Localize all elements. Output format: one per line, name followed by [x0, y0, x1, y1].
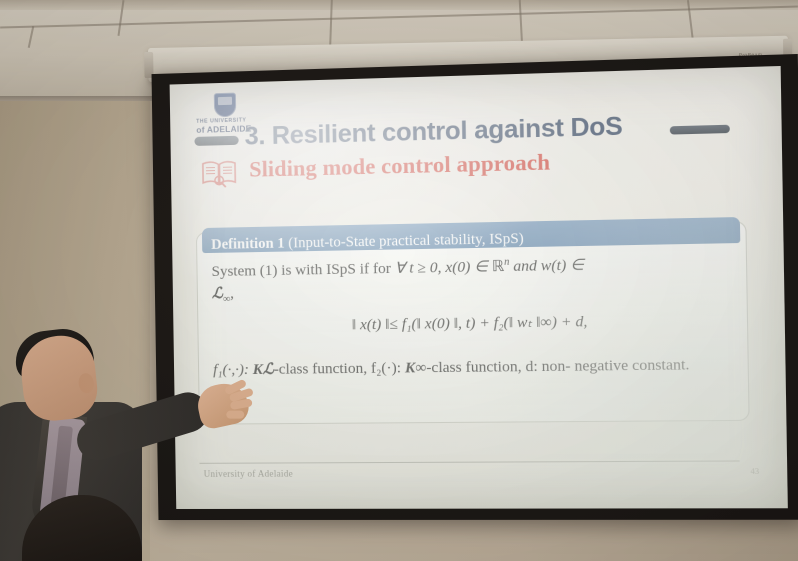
definition-box: Definition 1 (Input-to-State practical s… — [196, 221, 750, 425]
university-crest-icon — [214, 93, 236, 118]
open-book-icon — [201, 159, 238, 188]
definition-line1-b: t ≥ 0, x(0) ∈ — [405, 259, 492, 277]
real-numbers-symbol: ℝ — [492, 259, 505, 276]
closing-b: -class function, f₂(·): — [274, 360, 405, 378]
definition-line2-comma: , — [230, 285, 234, 301]
slide-title: 3. Resilient control against DoS — [244, 112, 622, 152]
definition-body: System (1) is with ISpS if for ∀ t ≥ 0, … — [211, 251, 735, 382]
definition-equation: ‖ x(t) ‖≤ f₁(‖ x(0) ‖, t) + f₂(‖ wₜ ‖∞) … — [212, 309, 734, 338]
script-L-symbol: ℒ — [212, 286, 223, 302]
definition-line1-a: System (1) is with ISpS if for — [211, 261, 394, 280]
slide-subtitle: Sliding mode control approach — [249, 149, 550, 183]
presenter-thumb — [226, 411, 244, 419]
lecture-room-photo: ProBeam THE UNIVERSITY of ADELAIDE 3. Re… — [0, 0, 798, 561]
title-accent-bar-left — [194, 136, 238, 146]
ceiling-tile-seam — [329, 0, 333, 46]
presenter-ear — [78, 372, 95, 393]
definition-closing-line: f₁(·,·): Κℒ-class function, f₂(·): Κ∞-cl… — [213, 355, 735, 383]
slide-footer-divider — [200, 460, 740, 463]
presenter-hand — [194, 379, 252, 430]
slide-page-number: 43 — [750, 467, 759, 476]
title-accent-bar-right — [670, 125, 730, 135]
class-k-infinity-symbol: Κ∞ — [405, 360, 427, 377]
closing-d: negative constant. — [574, 357, 689, 375]
slide-content: THE UNIVERSITY of ADELAIDE 3. Resilient … — [170, 66, 788, 509]
definition-header-detail: (Input-to-State practical stability, ISp… — [288, 231, 524, 252]
definition-line1-c: and w(t) ∈ — [509, 257, 584, 275]
ceiling-tile-seam — [28, 26, 35, 48]
definition-header-label: Definition 1 — [211, 235, 285, 253]
forall-symbol: ∀ — [395, 260, 406, 276]
closing-c: -class function, d: non- — [426, 359, 570, 377]
projection-screen-surface: THE UNIVERSITY of ADELAIDE 3. Resilient … — [170, 66, 788, 509]
